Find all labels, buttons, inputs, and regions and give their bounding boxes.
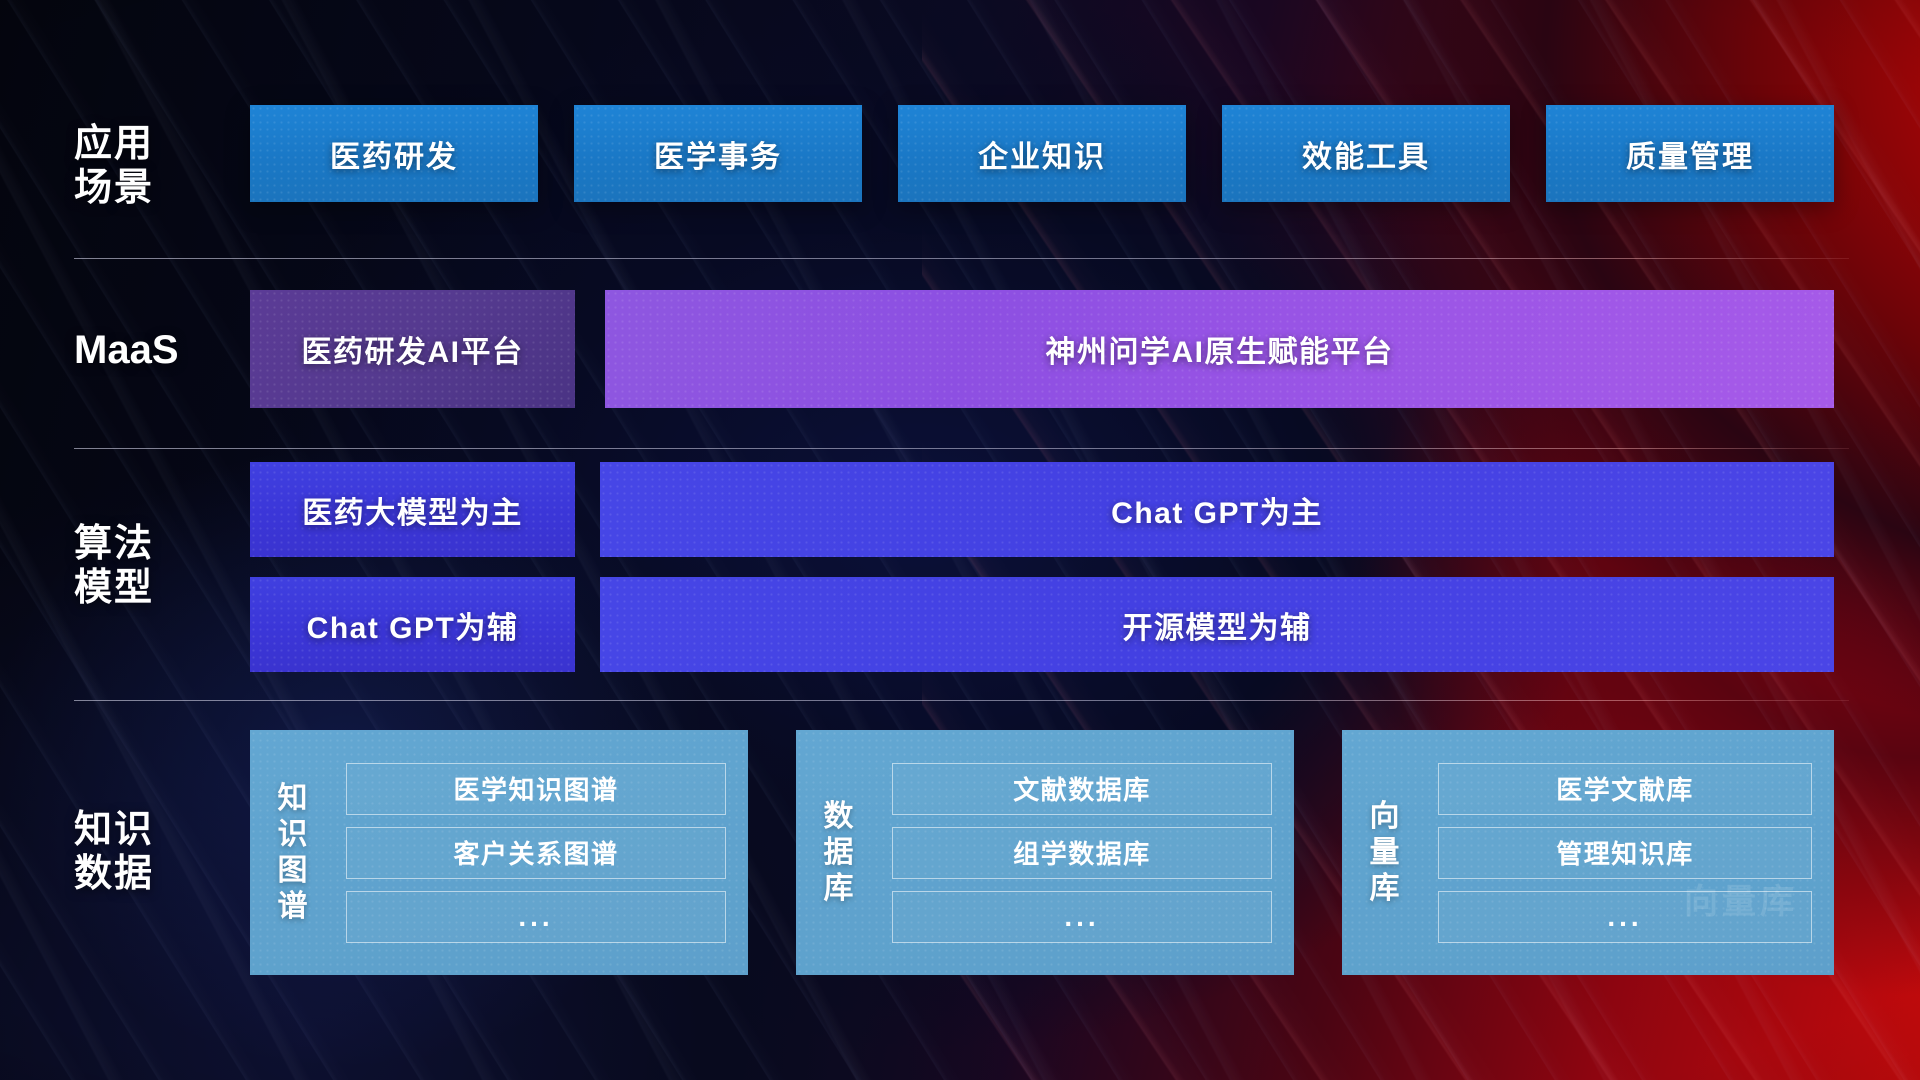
scene-card-label: 企业知识: [978, 132, 1106, 176]
panel-title-char: 知: [278, 781, 309, 817]
row-label-line: 模型: [74, 566, 242, 610]
knowledge-panel-title: 向 量 库: [1342, 730, 1428, 975]
algo-card-label: 医药大模型为主: [302, 488, 523, 532]
divider-scenarios-maas: [74, 258, 1849, 259]
knowledge-item[interactable]: 客户关系图谱: [346, 827, 726, 879]
row-knowledge-data: 知识 数据 知 识 图 谱 医学知识图谱 客户关系图谱 ...: [0, 730, 1920, 980]
panel-title-char: 图: [278, 853, 309, 889]
maas-card-drug-ai-platform[interactable]: 医药研发AI平台: [250, 290, 575, 408]
row-application-scenarios: 应用 场景 医药研发 医学事务 企业知识 效能工具 质量管理: [0, 105, 1920, 202]
divider-maas-algo: [74, 448, 1849, 449]
row-label-application-scenarios: 应用 场景: [74, 122, 242, 210]
scene-card-drug-rd[interactable]: 医药研发: [250, 105, 538, 202]
row-maas: MaaS 医药研发AI平台 神州问学AI原生赋能平台: [0, 290, 1920, 408]
row-label-algorithm-models: 算法 模型: [74, 522, 242, 610]
knowledge-item[interactable]: 医学知识图谱: [346, 763, 726, 815]
knowledge-item[interactable]: 管理知识库: [1438, 827, 1812, 879]
knowledge-panel-title: 数 据 库: [796, 730, 882, 975]
scene-card-efficiency-tools[interactable]: 效能工具: [1222, 105, 1510, 202]
maas-card-label: 神州问学AI原生赋能平台: [1046, 327, 1394, 371]
knowledge-panel-items: 文献数据库 组学数据库 ...: [882, 730, 1294, 975]
scene-card-label: 效能工具: [1302, 132, 1430, 176]
row-label-line: MaaS: [74, 327, 242, 373]
scene-card-label: 医学事务: [654, 132, 782, 176]
scene-card-medical-affairs[interactable]: 医学事务: [574, 105, 862, 202]
panel-title-char: 量: [1370, 835, 1401, 871]
slide-canvas: 应用 场景 医药研发 医学事务 企业知识 效能工具 质量管理: [0, 0, 1920, 1080]
scene-card-enterprise-knowledge[interactable]: 企业知识: [898, 105, 1186, 202]
scene-card-label: 医药研发: [330, 132, 458, 176]
architecture-diagram: 应用 场景 医药研发 医学事务 企业知识 效能工具 质量管理: [0, 0, 1920, 1080]
row-label-line: 数据: [74, 852, 242, 896]
panel-title-char: 向: [1370, 799, 1401, 835]
panel-title-char: 识: [278, 817, 309, 853]
scene-card-quality-management[interactable]: 质量管理: [1546, 105, 1834, 202]
knowledge-item-more[interactable]: ...: [346, 891, 726, 943]
algo-card-chatgpt-secondary[interactable]: Chat GPT为辅: [250, 577, 575, 672]
algo-card-label: 开源模型为辅: [1123, 603, 1312, 647]
panel-title-char: 据: [824, 835, 855, 871]
knowledge-item[interactable]: 文献数据库: [892, 763, 1272, 815]
algo-card-label: Chat GPT为辅: [307, 603, 519, 647]
knowledge-panel-knowledge-graph[interactable]: 知 识 图 谱 医学知识图谱 客户关系图谱 ...: [250, 730, 748, 975]
row-label-line: 算法: [74, 522, 242, 566]
knowledge-item[interactable]: 组学数据库: [892, 827, 1272, 879]
knowledge-panel-title: 知 识 图 谱: [250, 730, 336, 975]
divider-algo-knowledge: [74, 700, 1849, 701]
algo-card-label: Chat GPT为主: [1111, 488, 1323, 532]
knowledge-item[interactable]: 医学文献库: [1438, 763, 1812, 815]
algo-card-drug-llm-primary[interactable]: 医药大模型为主: [250, 462, 575, 557]
panel-title-char: 库: [1370, 871, 1401, 907]
maas-card-shenzhou-platform[interactable]: 神州问学AI原生赋能平台: [605, 290, 1834, 408]
knowledge-panel-items: 医学知识图谱 客户关系图谱 ...: [336, 730, 748, 975]
row-label-line: 知识: [74, 808, 242, 852]
scene-card-label: 质量管理: [1626, 132, 1754, 176]
row-label-maas: MaaS: [74, 327, 242, 373]
algo-card-opensource-secondary[interactable]: 开源模型为辅: [600, 577, 1834, 672]
row-label-line: 场景: [74, 166, 242, 210]
maas-card-label: 医药研发AI平台: [302, 327, 524, 371]
knowledge-item-more[interactable]: ...: [892, 891, 1272, 943]
panel-title-char: 库: [824, 871, 855, 907]
knowledge-panel-database[interactable]: 数 据 库 文献数据库 组学数据库 ...: [796, 730, 1294, 975]
algo-card-chatgpt-primary[interactable]: Chat GPT为主: [600, 462, 1834, 557]
knowledge-item-more[interactable]: ...: [1438, 891, 1812, 943]
knowledge-panel-items: 医学文献库 管理知识库 ...: [1428, 730, 1834, 975]
panel-title-char: 数: [824, 799, 855, 835]
row-label-knowledge-data: 知识 数据: [74, 808, 242, 896]
panel-title-char: 谱: [278, 889, 309, 925]
row-algorithm-models: 算法 模型 医药大模型为主 Chat GPT为主 Chat GPT为辅 开源模型…: [0, 462, 1920, 672]
knowledge-panel-vector-store[interactable]: 向量库 向 量 库 医学文献库 管理知识库 ...: [1342, 730, 1834, 975]
row-label-line: 应用: [74, 122, 242, 166]
